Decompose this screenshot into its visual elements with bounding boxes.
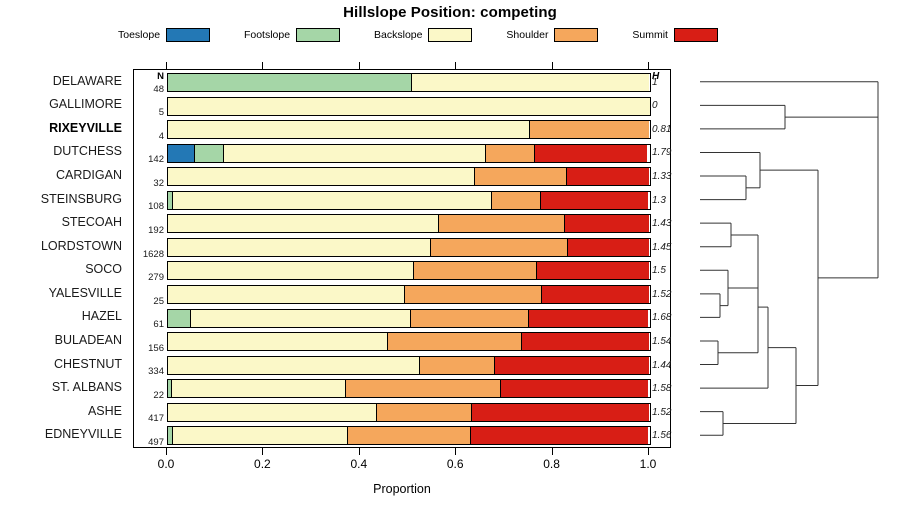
- table-row: 1081.3: [134, 189, 670, 213]
- table-row: 221.58: [134, 377, 670, 401]
- bar-segment-shoulder[interactable]: [347, 427, 470, 444]
- bar-segment-summit[interactable]: [470, 427, 648, 444]
- stacked-bar[interactable]: [167, 426, 651, 445]
- x-axis-top-tick: [262, 62, 263, 69]
- legend-swatch-footslope: [296, 28, 340, 42]
- bar-segment-shoulder[interactable]: [491, 192, 541, 209]
- bar-segment-backslope[interactable]: [168, 262, 414, 279]
- legend-entry-backslope: Backslope: [374, 28, 472, 42]
- y-axis-label-steinsburg[interactable]: STEINSBURG: [0, 193, 122, 206]
- bar-segment-backslope[interactable]: [168, 404, 377, 421]
- bar-segment-shoulder[interactable]: [438, 215, 564, 232]
- table-row: 3341.44: [134, 354, 670, 378]
- x-axis-top-tick: [648, 62, 649, 69]
- y-axis-label-buladean[interactable]: BULADEAN: [0, 334, 122, 347]
- bar-segment-backslope[interactable]: [168, 333, 388, 350]
- x-axis-tick-label: 0.4: [339, 457, 379, 471]
- stacked-bar[interactable]: [167, 191, 651, 210]
- y-axis-label-rixeyville[interactable]: RIXEYVILLE: [0, 122, 122, 135]
- stacked-bar[interactable]: [167, 332, 651, 351]
- x-axis-tick: [648, 448, 649, 455]
- bar-segment-summit[interactable]: [564, 215, 649, 232]
- row-count-delaware: 48: [134, 85, 164, 95]
- legend-label-shoulder: Shoulder: [506, 29, 548, 41]
- table-row: 16281.45: [134, 236, 670, 260]
- bar-segment-summit[interactable]: [566, 168, 649, 185]
- bar-segment-shoulder[interactable]: [387, 333, 522, 350]
- x-axis-tick-label: 0.8: [532, 457, 572, 471]
- dendrogram-svg: [678, 69, 900, 448]
- x-axis-tick: [166, 448, 167, 455]
- x-axis-tick-label: 0.2: [242, 457, 282, 471]
- row-count-soco: 279: [134, 273, 164, 283]
- stacked-bar[interactable]: [167, 120, 651, 139]
- x-axis-tick-label: 0.6: [435, 457, 475, 471]
- row-count-steinsburg: 108: [134, 202, 164, 212]
- x-axis-top-tick: [166, 62, 167, 69]
- table-row: 1421.79: [134, 142, 670, 166]
- bar-segment-shoulder[interactable]: [474, 168, 566, 185]
- stacked-bar[interactable]: [167, 309, 651, 328]
- stacked-bar[interactable]: [167, 261, 651, 280]
- bar-segment-backslope[interactable]: [190, 310, 410, 327]
- table-row: 4171.52: [134, 401, 670, 425]
- y-axis-label-hazel[interactable]: HAZEL: [0, 310, 122, 323]
- table-row: 50: [134, 95, 670, 119]
- page-title: Hillslope Position: competing: [0, 4, 900, 21]
- legend-swatch-backslope: [428, 28, 472, 42]
- table-row: 2791.5: [134, 260, 670, 284]
- bar-segment-footslope[interactable]: [168, 310, 191, 327]
- bar-segment-shoulder[interactable]: [529, 121, 650, 138]
- bar-segment-shoulder[interactable]: [376, 404, 471, 421]
- stacked-bar[interactable]: [167, 73, 651, 92]
- y-axis-label-ashe[interactable]: ASHE: [0, 405, 122, 418]
- bar-segment-backslope[interactable]: [168, 98, 650, 115]
- stacked-bar[interactable]: [167, 144, 651, 163]
- bar-segment-backslope[interactable]: [223, 145, 486, 162]
- row-count-gallimore: 5: [134, 108, 164, 118]
- bar-segment-footslope[interactable]: [168, 74, 412, 91]
- y-axis-label-cardigan[interactable]: CARDIGAN: [0, 169, 122, 182]
- stacked-bar[interactable]: [167, 356, 651, 375]
- row-count-st-albans: 22: [134, 391, 164, 401]
- row-count-ashe: 417: [134, 414, 164, 424]
- bar-segment-shoulder[interactable]: [430, 239, 568, 256]
- legend-swatch-shoulder: [554, 28, 598, 42]
- plot-panel: N H 4815040.811421.79321.331081.31921.43…: [133, 69, 671, 448]
- chart-root: Hillslope Position: competing Toeslope F…: [0, 0, 900, 520]
- x-axis-tick-label: 1.0: [628, 457, 668, 471]
- bar-segment-backslope[interactable]: [168, 286, 404, 303]
- stacked-bar[interactable]: [167, 167, 651, 186]
- bar-segment-shoulder[interactable]: [345, 380, 501, 397]
- stacked-bar[interactable]: [167, 403, 651, 422]
- bar-segment-footslope[interactable]: [194, 145, 223, 162]
- bar-segment-backslope[interactable]: [411, 74, 649, 91]
- bar-segment-backslope[interactable]: [172, 427, 348, 444]
- bar-segment-backslope[interactable]: [168, 357, 420, 374]
- table-row: 611.68: [134, 307, 670, 331]
- legend-label-footslope: Footslope: [244, 29, 290, 41]
- table-row: 1921.43: [134, 212, 670, 236]
- bar-segment-backslope[interactable]: [168, 239, 430, 256]
- row-count-cardigan: 32: [134, 179, 164, 189]
- bar-segment-summit[interactable]: [541, 286, 649, 303]
- y-axis-label-gallimore[interactable]: GALLIMORE: [0, 98, 122, 111]
- x-axis-top-tick: [455, 62, 456, 69]
- legend-entry-summit: Summit: [632, 28, 718, 42]
- legend-entry-footslope: Footslope: [244, 28, 340, 42]
- bar-segment-summit[interactable]: [540, 192, 648, 209]
- table-row: 40.81: [134, 118, 670, 142]
- bar-segment-backslope[interactable]: [171, 380, 345, 397]
- table-row: 481: [134, 71, 670, 95]
- x-axis-tick: [262, 448, 263, 455]
- x-axis-tick: [359, 448, 360, 455]
- x-axis-top-tick: [359, 62, 360, 69]
- row-count-edneyville: 497: [134, 438, 164, 448]
- x-axis-tick: [455, 448, 456, 455]
- y-axis-label-stecoah[interactable]: STECOAH: [0, 216, 122, 229]
- table-row: 1561.54: [134, 330, 670, 354]
- x-axis-top-tick: [552, 62, 553, 69]
- table-row: 4971.56: [134, 424, 670, 448]
- table-row: 251.52: [134, 283, 670, 307]
- legend-swatch-summit: [674, 28, 718, 42]
- bar-segment-shoulder[interactable]: [410, 310, 529, 327]
- bar-segment-backslope[interactable]: [172, 192, 492, 209]
- y-axis-label-st-albans[interactable]: ST. ALBANS: [0, 381, 122, 394]
- y-axis-label-yalesville[interactable]: YALESVILLE: [0, 287, 122, 300]
- legend-label-backslope: Backslope: [374, 29, 422, 41]
- y-axis-label-delaware[interactable]: DELAWARE: [0, 75, 122, 88]
- stacked-bar[interactable]: [167, 97, 651, 116]
- legend-entry-toeslope: Toeslope: [118, 28, 210, 42]
- x-axis-tick-label: 0.0: [146, 457, 186, 471]
- bar-segment-shoulder[interactable]: [419, 357, 494, 374]
- stacked-bar[interactable]: [167, 285, 651, 304]
- legend-swatch-toeslope: [166, 28, 210, 42]
- y-axis-label-soco[interactable]: SOCO: [0, 263, 122, 276]
- bar-segment-backslope[interactable]: [168, 215, 439, 232]
- row-count-yalesville: 25: [134, 297, 164, 307]
- row-count-dutchess: 142: [134, 155, 164, 165]
- y-axis-label-edneyville[interactable]: EDNEYVILLE: [0, 428, 122, 441]
- table-row: 321.33: [134, 165, 670, 189]
- stacked-bars-layer: 4815040.811421.79321.331081.31921.431628…: [134, 70, 670, 447]
- dendrogram: [678, 69, 900, 448]
- row-count-chestnut: 334: [134, 367, 164, 377]
- row-count-stecoah: 192: [134, 226, 164, 236]
- bar-segment-summit[interactable]: [567, 239, 649, 256]
- legend: Toeslope Footslope Backslope Shoulder Su…: [118, 26, 718, 44]
- legend-entry-shoulder: Shoulder: [506, 28, 598, 42]
- row-count-buladean: 156: [134, 344, 164, 354]
- x-axis-title: Proportion: [133, 482, 671, 496]
- stacked-bar[interactable]: [167, 379, 651, 398]
- bar-segment-summit[interactable]: [528, 310, 648, 327]
- bar-segment-summit[interactable]: [534, 145, 647, 162]
- y-axis-label-lordstown[interactable]: LORDSTOWN: [0, 240, 122, 253]
- bar-segment-summit[interactable]: [536, 262, 649, 279]
- bar-segment-shoulder[interactable]: [404, 286, 542, 303]
- bar-segment-summit[interactable]: [471, 404, 649, 421]
- x-axis-tick: [552, 448, 553, 455]
- y-axis-label-chestnut[interactable]: CHESTNUT: [0, 358, 122, 371]
- row-count-rixeyville: 4: [134, 132, 164, 142]
- stacked-bar[interactable]: [167, 238, 651, 257]
- legend-label-summit: Summit: [632, 29, 668, 41]
- legend-label-toeslope: Toeslope: [118, 29, 160, 41]
- bar-segment-shoulder[interactable]: [485, 145, 535, 162]
- y-axis-label-dutchess[interactable]: DUTCHESS: [0, 145, 122, 158]
- bar-segment-summit[interactable]: [500, 380, 648, 397]
- bar-segment-backslope[interactable]: [168, 121, 530, 138]
- bar-segment-toeslope[interactable]: [168, 145, 195, 162]
- bar-segment-summit[interactable]: [521, 333, 648, 350]
- stacked-bar[interactable]: [167, 214, 651, 233]
- row-count-lordstown: 1628: [134, 250, 164, 260]
- row-count-hazel: 61: [134, 320, 164, 330]
- y-axis-labels: DELAWAREGALLIMORERIXEYVILLEDUTCHESSCARDI…: [0, 69, 128, 448]
- bar-segment-summit[interactable]: [494, 357, 649, 374]
- bar-segment-backslope[interactable]: [168, 168, 475, 185]
- bar-segment-shoulder[interactable]: [413, 262, 536, 279]
